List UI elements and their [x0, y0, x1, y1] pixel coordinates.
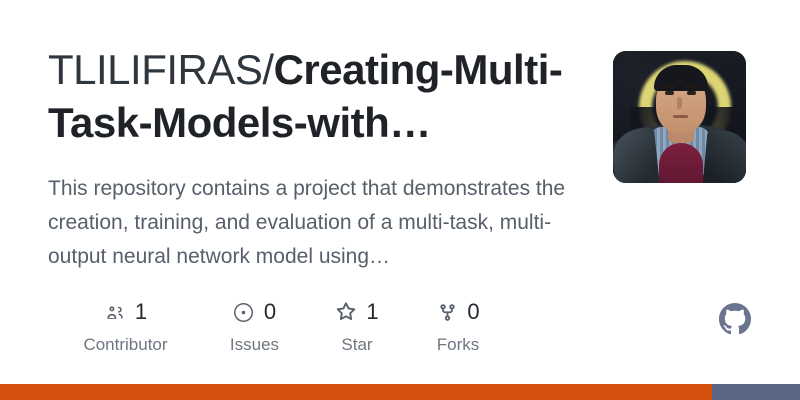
avatar — [613, 51, 746, 183]
issue-opened-icon — [233, 301, 255, 323]
repo-forked-icon — [436, 301, 458, 323]
github-logo-icon — [719, 303, 751, 335]
page-title: TLILIFIRAS/Creating-Multi-Task-Models-wi… — [48, 44, 588, 149]
stat-stars-top: 1 — [335, 298, 378, 326]
stat-stars-count: 1 — [366, 301, 378, 323]
stat-contributors-top: 1 — [104, 298, 147, 326]
stat-issues: 0 Issues — [203, 298, 306, 355]
repo-stats: 1 Contributor 0 Issues — [48, 298, 508, 355]
stat-issues-top: 0 — [233, 298, 276, 326]
stat-contributors-label: Contributor — [83, 335, 167, 355]
stat-forks-label: Forks — [437, 335, 480, 355]
stat-forks-count: 0 — [467, 301, 479, 323]
stat-forks-top: 0 — [436, 298, 479, 326]
avatar-sweater — [659, 143, 703, 183]
stat-issues-label: Issues — [230, 335, 279, 355]
stat-stars: 1 Star — [306, 298, 408, 355]
avatar-eye-left — [665, 91, 674, 95]
language-bar — [0, 384, 800, 400]
repo-title-block: TLILIFIRAS/Creating-Multi-Task-Models-wi… — [48, 44, 588, 149]
stat-contributors-count: 1 — [135, 301, 147, 323]
star-icon — [335, 301, 357, 323]
people-icon — [104, 301, 126, 323]
repo-description: This repository contains a project that … — [48, 172, 578, 274]
stat-stars-label: Star — [341, 335, 372, 355]
stat-forks: 0 Forks — [408, 298, 508, 355]
avatar-photo — [613, 51, 746, 183]
repo-owner-name: TLILIFIRAS/ — [48, 46, 274, 93]
avatar-mouth — [673, 115, 688, 118]
avatar-jacket-right — [703, 129, 746, 183]
avatar-brow-right — [685, 85, 697, 88]
language-segment-other — [712, 384, 800, 400]
language-segment-jupyter-notebook — [0, 384, 712, 400]
stat-contributors: 1 Contributor — [48, 298, 203, 355]
avatar-eye-right — [687, 91, 696, 95]
stat-issues-count: 0 — [264, 301, 276, 323]
repo-social-preview-card: TLILIFIRAS/Creating-Multi-Task-Models-wi… — [0, 0, 800, 400]
avatar-brow-left — [663, 85, 675, 88]
avatar-nose — [677, 97, 682, 109]
